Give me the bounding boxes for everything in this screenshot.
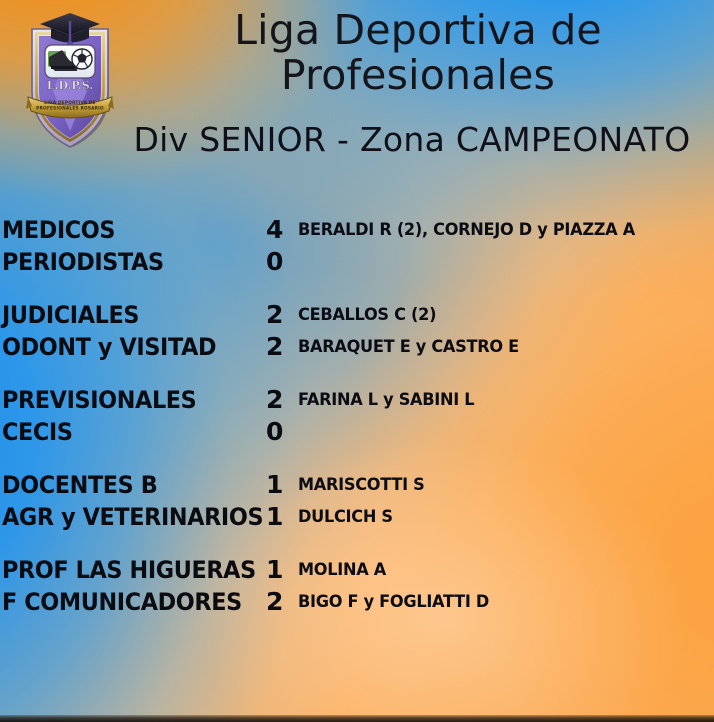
team-name: MEDICOS (2, 214, 115, 246)
team-name: CECIS (2, 416, 73, 448)
crest-monogram: L.D.P.S. (47, 79, 93, 92)
match-row-away: F COMUNICADORES 2 BIGO F y FOGLIATTI D (0, 586, 714, 618)
crest-ribbon-line2: PROFESIONALES ROSARIO (36, 106, 104, 112)
page-subtitle: Div SENIOR - Zona CAMPEONATO (0, 121, 714, 159)
match-row-home: JUDICIALES 2 CEBALLOS C (2) (0, 299, 714, 331)
goal-scorers: FARINA L y SABINI L (298, 385, 474, 416)
match-row-home: DOCENTES B 1 MARISCOTTI S (0, 469, 714, 501)
match-item: DOCENTES B 1 MARISCOTTI S AGR y VETERINA… (0, 469, 714, 533)
team-score: 0 (266, 416, 288, 448)
bottom-edge-strip (0, 715, 714, 722)
match-item: PREVISIONALES 2 FARINA L y SABINI L CECI… (0, 384, 714, 448)
team-name: JUDICIALES (2, 299, 139, 331)
goal-scorers: MARISCOTTI S (298, 470, 424, 501)
team-score: 1 (266, 501, 288, 533)
team-score: 2 (266, 384, 288, 416)
match-row-away: AGR y VETERINARIOS 1 DULCICH S (0, 501, 714, 533)
team-name: DOCENTES B (2, 469, 157, 501)
match-results-list: MEDICOS 4 BERALDI R (2), CORNEJO D y PIA… (0, 214, 714, 639)
team-score: 1 (266, 554, 288, 586)
goal-scorers: CEBALLOS C (2) (298, 300, 436, 331)
team-name: AGR y VETERINARIOS (2, 501, 263, 533)
goal-scorers: BARAQUET E y CASTRO E (298, 332, 519, 363)
match-item: JUDICIALES 2 CEBALLOS C (2) ODONT y VISI… (0, 299, 714, 363)
match-row-home: PREVISIONALES 2 FARINA L y SABINI L (0, 384, 714, 416)
team-name: F COMUNICADORES (2, 586, 242, 618)
team-score: 1 (266, 469, 288, 501)
team-score: 0 (266, 246, 288, 278)
goal-scorers: DULCICH S (298, 502, 393, 533)
match-row-away: CECIS 0 (0, 416, 714, 448)
crest-ribbon-line1: LIGA DEPORTIVA DE (44, 100, 95, 106)
match-row-home: MEDICOS 4 BERALDI R (2), CORNEJO D y PIA… (0, 214, 714, 246)
page-title: Liga Deportiva de Profesionales (130, 8, 706, 98)
team-name: PERIODISTAS (2, 246, 164, 278)
results-poster: L.D.P.S. LIGA DEPORTIVA DE PROFESIONALES… (0, 0, 714, 722)
match-row-away: PERIODISTAS 0 (0, 246, 714, 278)
title-line-1: Liga Deportiva de (130, 8, 706, 53)
goal-scorers: MOLINA A (298, 555, 386, 586)
team-name: PROF LAS HIGUERAS (2, 554, 256, 586)
team-name: PREVISIONALES (2, 384, 196, 416)
team-score: 2 (266, 299, 288, 331)
team-score: 4 (266, 214, 288, 246)
team-score: 2 (266, 586, 288, 618)
soccer-ball-icon (72, 49, 92, 69)
match-item: PROF LAS HIGUERAS 1 MOLINA A F COMUNICAD… (0, 554, 714, 618)
goal-scorers: BIGO F y FOGLIATTI D (298, 587, 489, 618)
goal-scorers: BERALDI R (2), CORNEJO D y PIAZZA A (298, 215, 635, 246)
match-row-away: ODONT y VISITAD 2 BARAQUET E y CASTRO E (0, 331, 714, 363)
team-score: 2 (266, 331, 288, 363)
title-line-2: Profesionales (130, 53, 706, 98)
match-item: MEDICOS 4 BERALDI R (2), CORNEJO D y PIA… (0, 214, 714, 278)
poster-header: L.D.P.S. LIGA DEPORTIVA DE PROFESIONALES… (0, 0, 714, 180)
match-row-home: PROF LAS HIGUERAS 1 MOLINA A (0, 554, 714, 586)
team-name: ODONT y VISITAD (2, 331, 216, 363)
